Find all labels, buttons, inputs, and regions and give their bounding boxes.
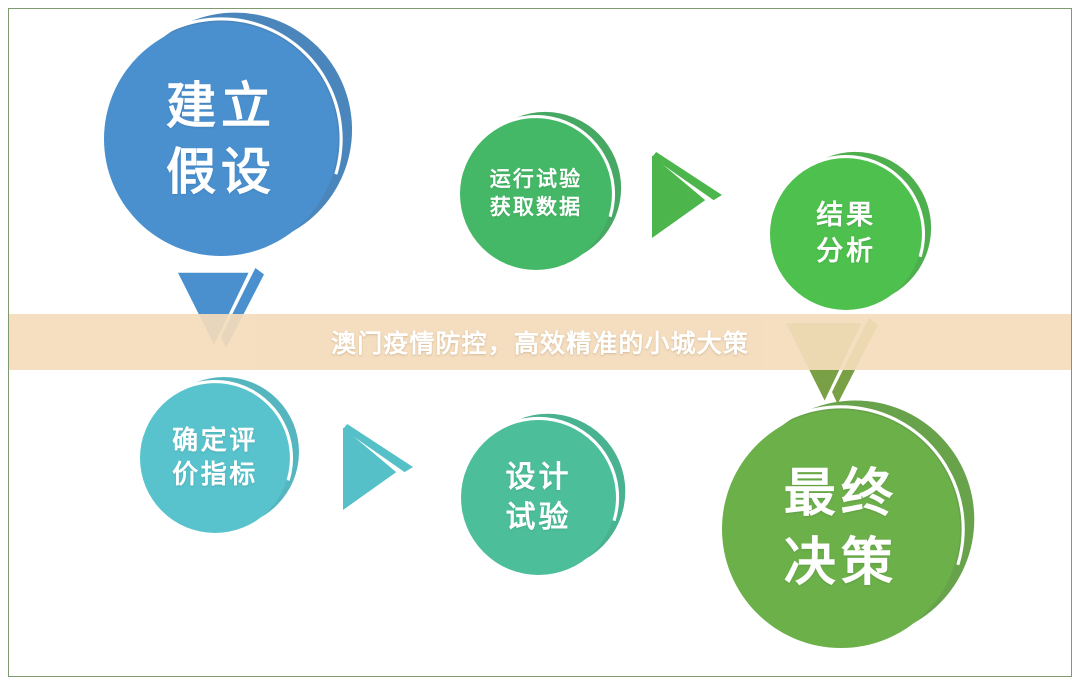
node-label-line-1: 结果 — [816, 198, 875, 234]
node-evaluation-metrics: 确定评 价指标 — [140, 383, 290, 533]
node-label-line-2: 试验 — [506, 498, 572, 538]
node-label: 建立 假设 — [104, 22, 338, 256]
node-design-experiment: 设计 试验 — [461, 420, 616, 575]
node-label-line-2: 假设 — [166, 139, 276, 205]
node-establish-hypothesis: 建立 假设 — [104, 22, 338, 256]
node-label: 最终 决策 — [722, 410, 960, 648]
node-label: 确定评 价指标 — [140, 383, 290, 533]
node-label-line-2: 获取数据 — [490, 194, 582, 222]
arrow-right-green-icon — [652, 152, 722, 238]
node-label: 设计 试验 — [461, 420, 616, 575]
infographic-canvas: 建立 假设 运行试验 获取数据 结果 分析 确定评 价指标 — [0, 0, 1080, 685]
node-label-line-1: 建立 — [166, 73, 276, 139]
node-label-line-1: 确定评 — [172, 424, 258, 458]
node-label-line-1: 最终 — [784, 460, 898, 529]
node-label-line-2: 价指标 — [172, 458, 258, 492]
node-label: 结果 分析 — [770, 158, 922, 310]
node-label-line-2: 分析 — [816, 234, 875, 270]
node-label-line-1: 设计 — [506, 458, 572, 498]
title-banner: 澳门疫情防控，高效精准的小城大策 — [9, 314, 1071, 370]
node-final-decision: 最终 决策 — [722, 410, 960, 648]
node-run-experiment: 运行试验 获取数据 — [460, 118, 612, 270]
arrow-right-teal-icon — [343, 424, 413, 510]
node-result-analysis: 结果 分析 — [770, 158, 922, 310]
banner-title-text: 澳门疫情防控，高效精准的小城大策 — [331, 324, 749, 360]
node-label-line-1: 运行试验 — [490, 166, 582, 194]
node-label: 运行试验 获取数据 — [460, 118, 612, 270]
node-label-line-2: 决策 — [784, 529, 898, 598]
